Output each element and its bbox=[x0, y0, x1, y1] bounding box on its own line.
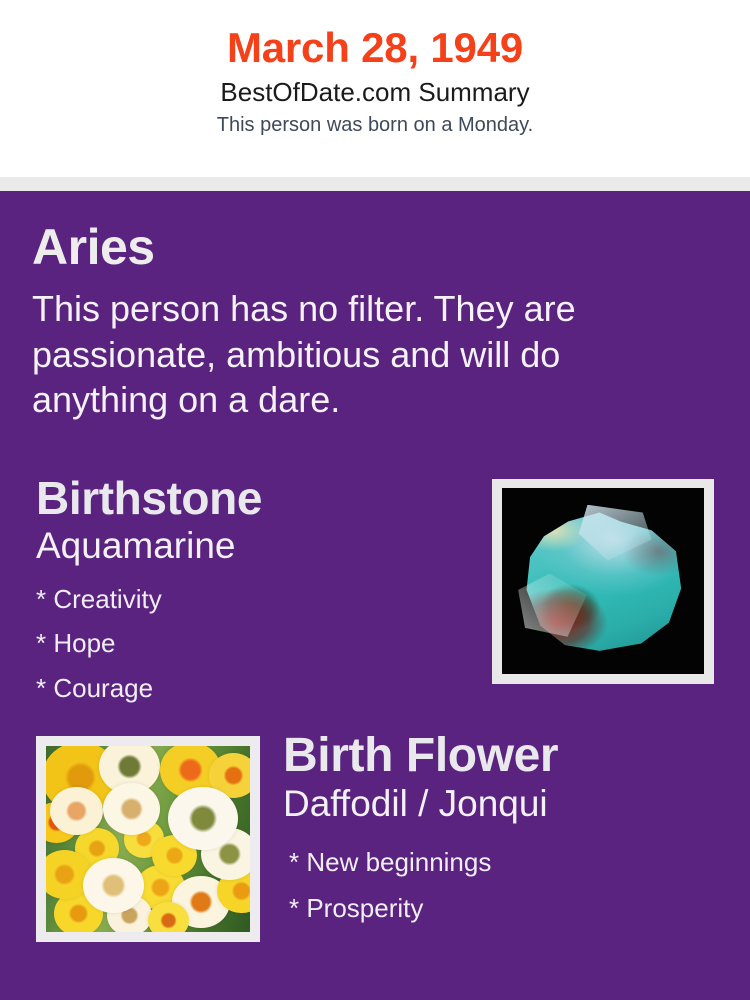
birthstone-name: Aquamarine bbox=[36, 521, 466, 567]
body: Aries This person has no filter. They ar… bbox=[0, 191, 750, 1000]
daffodil-bloom-icon bbox=[83, 858, 144, 914]
birthstone-title: Birthstone bbox=[36, 475, 466, 521]
birth-flower-section: Birth Flower Daffodil / Jonqui * New beg… bbox=[283, 732, 723, 931]
list-item: * Creativity bbox=[36, 577, 466, 622]
header-divider bbox=[0, 177, 750, 191]
header: March 28, 1949 BestOfDate.com Summary Th… bbox=[0, 0, 750, 177]
list-item: * Courage bbox=[36, 666, 466, 711]
list-item: * Hope bbox=[36, 621, 466, 666]
zodiac-description: This person has no filter. They are pass… bbox=[32, 272, 657, 423]
birthstone-image-frame bbox=[492, 479, 714, 684]
birth-flower-image-frame bbox=[36, 736, 260, 942]
birth-flower-title: Birth Flower bbox=[283, 732, 723, 780]
list-item: * New beginnings bbox=[289, 839, 723, 885]
daffodil-bloom-icon bbox=[50, 787, 103, 835]
list-item: * Prosperity bbox=[289, 885, 723, 931]
site-name: BestOfDate.com Summary bbox=[0, 70, 750, 108]
summary-card: March 28, 1949 BestOfDate.com Summary Th… bbox=[0, 0, 750, 1000]
zodiac-sign-title: Aries bbox=[32, 222, 672, 272]
birth-flower-name: Daffodil / Jonqui bbox=[283, 780, 723, 825]
birth-flower-traits-list: * New beginnings * Prosperity bbox=[283, 825, 723, 932]
daffodil-bloom-icon bbox=[168, 787, 237, 850]
born-day-subtitle: This person was born on a Monday. bbox=[0, 108, 750, 137]
page-title-date: March 28, 1949 bbox=[0, 0, 750, 70]
birthstone-traits-list: * Creativity * Hope * Courage bbox=[36, 567, 466, 711]
aquamarine-crystal-image bbox=[502, 488, 704, 674]
daffodil-flowers-image bbox=[46, 746, 250, 932]
daffodil-bloom-icon bbox=[148, 902, 189, 932]
birthstone-section: Birthstone Aquamarine * Creativity * Hop… bbox=[36, 475, 466, 711]
zodiac-section: Aries This person has no filter. They ar… bbox=[32, 222, 672, 423]
